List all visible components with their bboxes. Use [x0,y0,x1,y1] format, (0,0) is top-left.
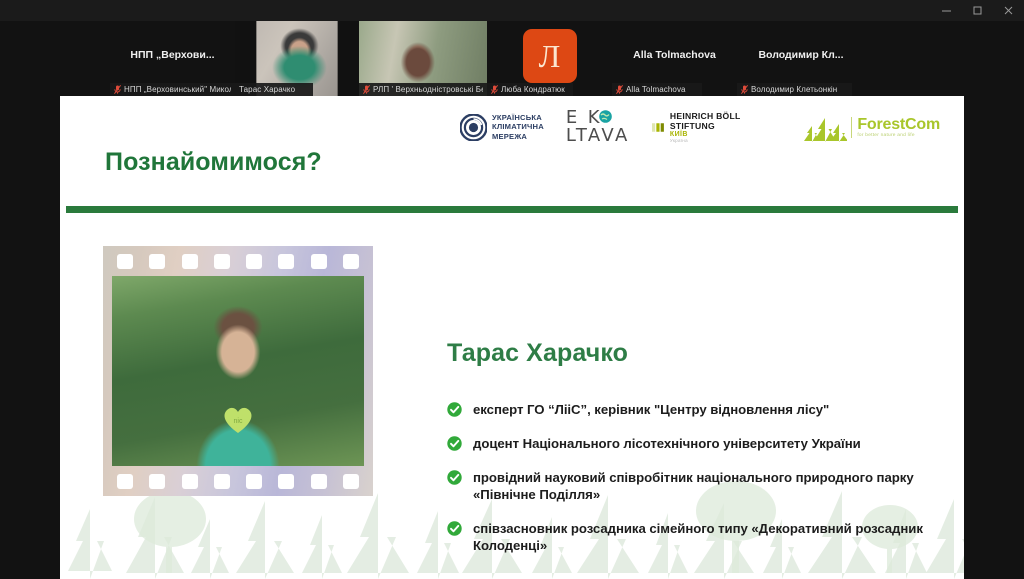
participant-name-label: РЛП ' Верхньодністровські Бес... [373,85,483,94]
list-item: доцент Національного лісотехнічного унів… [447,435,964,452]
logo-line-1: УКРАЇНСЬКА [492,113,544,122]
maximize-button[interactable] [962,0,993,21]
participant-namebar: РЛП ' Верхньодністровські Бес... [359,83,487,96]
participant-name-label: НПП „Верховинський" Микола ... [124,85,231,94]
check-circle-icon [447,402,462,417]
svg-text:nic: nic [234,418,243,425]
globe-icon [599,110,612,123]
shared-presentation-slide[interactable]: УКРАЇНСЬКА КЛІМАТИЧНА МЕРЕЖА E K LTAVA [60,96,964,579]
participant-namebar: Alla Tolmachova [612,83,702,96]
logo-line-3: МЕРЕЖА [492,132,544,141]
participant-tile[interactable]: НПП „Верхови... НПП „Верховинський" Мико… [110,21,235,96]
sprocket-hole [246,254,262,269]
participant-tile[interactable]: РЛП ' Верхньодністровські Бес... [359,21,487,96]
logo-text-block: ForestCom for better nature and life [851,117,940,138]
logo-line-2: КИЇВ [670,131,781,138]
partner-logos: УКРАЇНСЬКА КЛІМАТИЧНА МЕРЕЖА E K LTAVA [460,104,940,150]
microphone-muted-icon [741,85,748,94]
sprocket-hole [214,474,230,489]
close-button[interactable] [993,0,1024,21]
logo-ekoltava: E K LTAVA [566,109,630,146]
participant-name-label: Тарас Харачко [239,85,295,94]
logo-line-2: for better nature and life [857,133,940,138]
participant-name-label: Alla Tolmachova [626,85,686,94]
window-titlebar [0,0,1024,21]
participant-tile[interactable]: Л Люба Кондратюк [487,21,612,96]
person-bio-list: експерт ГО “ЛііС”, керівник "Центру відн… [447,401,964,571]
person-photo: nic [112,276,364,466]
sprocket-hole [117,474,133,489]
application-window: НПП „Верхови... НПП „Верховинський" Мико… [0,0,1024,579]
sprocket-hole [311,254,327,269]
sprocket-hole [214,254,230,269]
person-photo-filmstrip-frame: nic [103,246,373,496]
logo-line-3: Україна [670,138,781,143]
person-name: Тарас Харачко [447,339,628,368]
microphone-muted-icon [491,85,498,94]
participant-display-name: Володимир Кл... [737,49,865,61]
minimize-button[interactable] [931,0,962,21]
participant-tile[interactable]: Alla Tolmachova Alla Tolmachova [612,21,737,96]
forest-trees-icon [803,112,847,142]
list-item-text: співзасновник розсадника сімейного типу … [473,520,964,554]
logo-text-block: УКРАЇНСЬКА КЛІМАТИЧНА МЕРЕЖА [492,113,544,141]
sprocket-hole [149,474,165,489]
list-item: співзасновник розсадника сімейного типу … [447,520,964,554]
list-item-text: провідний науковий співробітник націонал… [473,469,964,503]
heart-shirt-logo-icon: nic [221,404,255,434]
participant-tile-active-speaker[interactable]: Тарас Харачко [235,21,359,96]
list-item: експерт ГО “ЛііС”, керівник "Центру відн… [447,401,964,418]
sprocket-hole [149,254,165,269]
microphone-muted-icon [616,85,623,94]
logo-line-1: ForestCom [857,117,940,133]
participant-name-label: Володимир Клетьонкін [751,85,837,94]
title-divider-rule [66,206,958,213]
participant-namebar: Володимир Клетьонкін [737,83,852,96]
list-item-text: доцент Національного лісотехнічного унів… [473,435,861,452]
logo-text-block: E K LTAVA [566,109,630,146]
sprocket-hole [182,254,198,269]
logo-heinrich-boll-stiftung: HEINRICH BÖLL STIFTUNG КИЇВ Україна [652,111,782,143]
sprocket-row-bottom [103,468,373,494]
participant-display-name: НПП „Верхови... [110,49,235,61]
sprocket-hole [278,254,294,269]
sprocket-hole [343,474,359,489]
microphone-muted-icon [363,85,370,94]
participant-namebar: НПП „Верховинський" Микола ... [110,83,235,96]
participant-namebar: Тарас Харачко [235,83,313,96]
sprocket-hole [343,254,359,269]
logo-line-1: HEINRICH BÖLL STIFTUNG [670,111,781,131]
logo-line-2: LTAVA [566,127,630,145]
logo-ukrainian-climate-network: УКРАЇНСЬКА КЛІМАТИЧНА МЕРЕЖА [460,113,544,141]
participant-name-label: Люба Кондратюк [501,85,565,94]
avatar: Л [523,29,577,83]
sprocket-hole [246,474,262,489]
sprocket-hole [311,474,327,489]
sprocket-row-top [103,248,373,274]
spiral-icon [460,114,487,141]
logo-line-2: КЛІМАТИЧНА [492,122,544,131]
microphone-muted-icon [114,85,121,94]
logo-text-block: HEINRICH BÖLL STIFTUNG КИЇВ Україна [670,111,781,143]
check-circle-icon [447,470,462,485]
hbs-bars-icon [652,123,665,132]
check-circle-icon [447,436,462,451]
sprocket-hole [278,474,294,489]
participant-tile[interactable]: Володимир Кл... Володимир Клетьонкін [737,21,865,96]
participant-namebar: Люба Кондратюк [487,83,573,96]
sprocket-hole [182,474,198,489]
check-circle-icon [447,521,462,536]
list-item-text: експерт ГО “ЛііС”, керівник "Центру відн… [473,401,829,418]
sprocket-hole [117,254,133,269]
participant-display-name: Alla Tolmachova [612,49,737,61]
participant-filmstrip: НПП „Верхови... НПП „Верховинський" Мико… [0,21,1024,96]
list-item: провідний науковий співробітник націонал… [447,469,964,503]
slide-title: Познайомимося? [105,148,322,177]
logo-forestcom: ForestCom for better nature and life [803,112,940,142]
